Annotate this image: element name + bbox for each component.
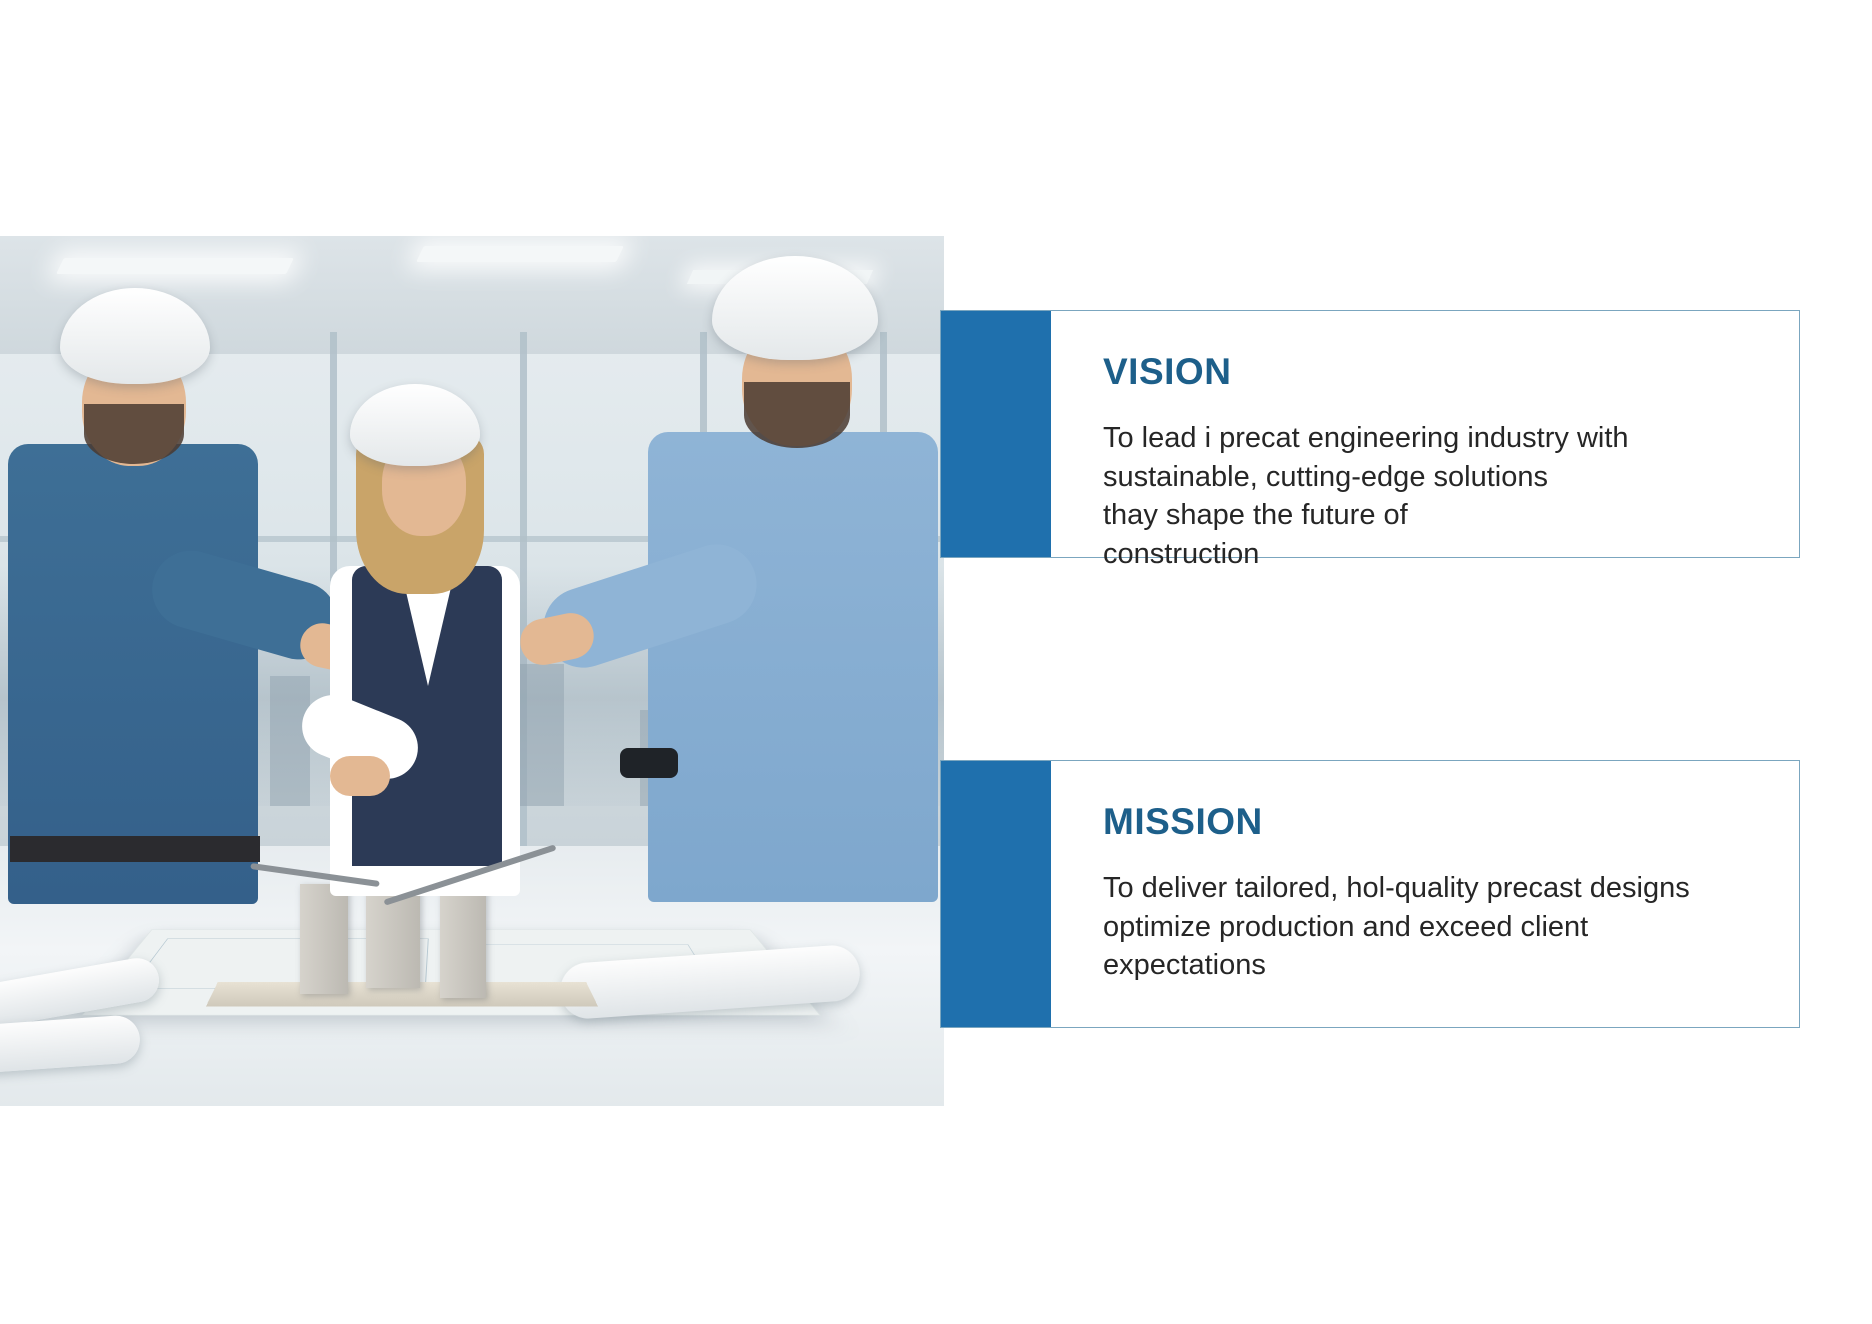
- vision-title: VISION: [1103, 351, 1745, 393]
- mission-text: To deliver tailored, hol-quality precast…: [1103, 869, 1745, 985]
- mission-card-body: MISSION To deliver tailored, hol-quality…: [1051, 761, 1799, 1027]
- shirt: [8, 444, 258, 904]
- slide-canvas: VISION To lead i precat engineering indu…: [0, 0, 1872, 1324]
- hand: [330, 756, 390, 796]
- vision-card: VISION To lead i precat engineering indu…: [940, 310, 1800, 558]
- vision-card-body: VISION To lead i precat engineering indu…: [1051, 311, 1799, 557]
- mission-card: MISSION To deliver tailored, hol-quality…: [940, 760, 1800, 1028]
- belt: [10, 836, 260, 862]
- wristwatch: [620, 748, 678, 778]
- beard: [84, 404, 184, 464]
- shirt: [648, 432, 938, 902]
- beard: [744, 382, 850, 448]
- team-engineers-photo: [0, 236, 944, 1106]
- mission-accent-bar: [941, 761, 1051, 1027]
- vision-text: To lead i precat engineering industry wi…: [1103, 419, 1745, 573]
- mission-title: MISSION: [1103, 801, 1745, 843]
- vision-accent-bar: [941, 311, 1051, 557]
- precast-model-block: [300, 884, 348, 994]
